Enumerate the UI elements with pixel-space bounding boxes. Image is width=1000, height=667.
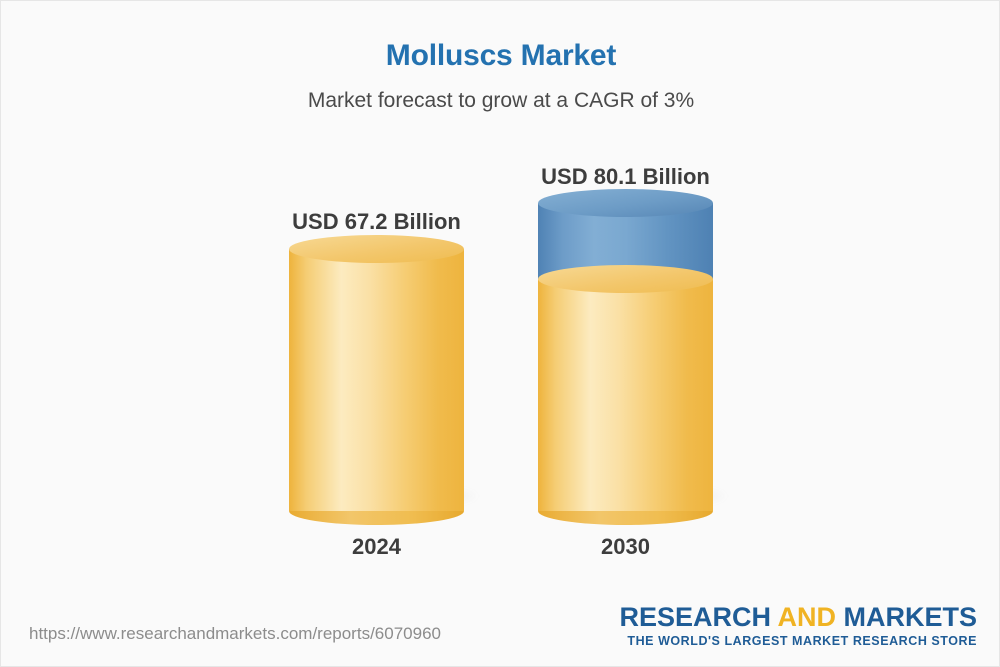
bar-value-label-2024: USD 67.2 Billion: [289, 209, 464, 235]
brand-name: RESEARCH AND MARKETS: [619, 603, 977, 631]
brand-name-part3: MARKETS: [836, 602, 977, 632]
cylinder-cap-2030: [538, 189, 713, 217]
category-label-2024: 2024: [289, 534, 464, 560]
brand-logo[interactable]: RESEARCH AND MARKETS THE WORLD'S LARGEST…: [619, 603, 977, 648]
plot-area: USD 67.2 Billion 2024 USD 80.1 Billion: [1, 1, 1000, 601]
cylinder-cap-2024: [289, 235, 464, 263]
brand-name-part1: RESEARCH: [619, 602, 777, 632]
brand-tagline: THE WORLD'S LARGEST MARKET RESEARCH STOR…: [619, 634, 977, 648]
bar-group-2030: USD 80.1 Billion 2030: [538, 1, 713, 601]
category-label-2030: 2030: [538, 534, 713, 560]
cylinder-body-2024: [289, 249, 464, 511]
cylinder-body-base-2030: [538, 279, 713, 511]
brand-name-and: AND: [778, 602, 837, 632]
source-url[interactable]: https://www.researchandmarkets.com/repor…: [29, 624, 441, 644]
cylinder-2030: [538, 189, 713, 511]
cylinder-2024: [289, 235, 464, 511]
cylinder-divider-2030: [538, 265, 713, 293]
chart-page: Molluscs Market Market forecast to grow …: [0, 0, 1000, 667]
bar-group-2024: USD 67.2 Billion 2024: [289, 1, 464, 601]
bar-value-label-2030: USD 80.1 Billion: [538, 164, 713, 190]
